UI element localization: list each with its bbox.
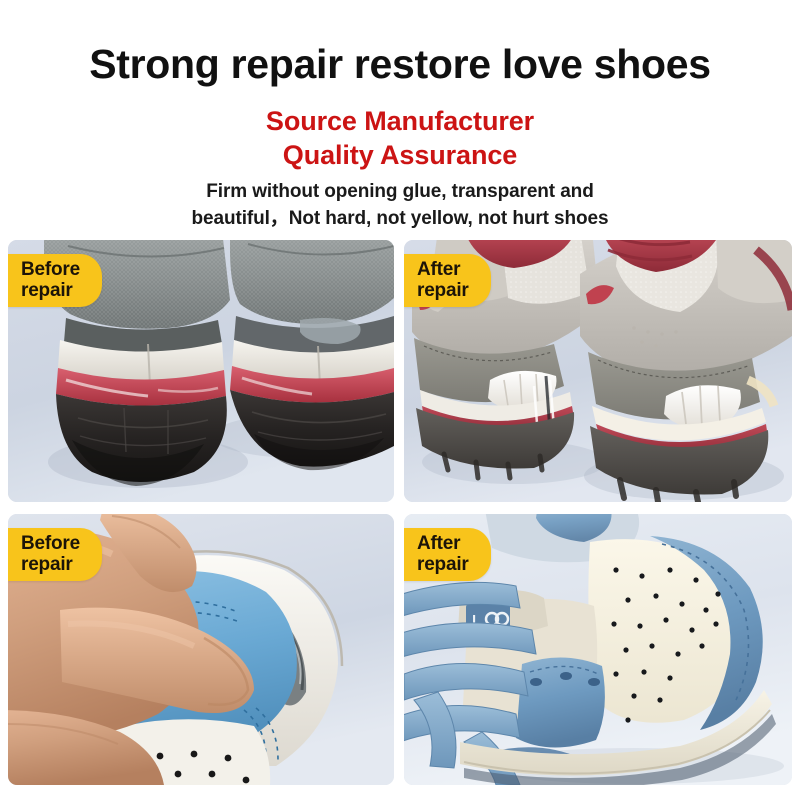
product-ad-page: Strong repair restore love shoes Source … bbox=[0, 0, 800, 800]
header: Strong repair restore love shoes Source … bbox=[0, 0, 800, 236]
badge-line-2: repair bbox=[21, 554, 80, 575]
subtitle-block: Source Manufacturer Quality Assurance bbox=[0, 104, 800, 172]
badge-after-repair-sneaker: After repair bbox=[404, 528, 491, 581]
badge-after-repair-heels: After repair bbox=[404, 254, 491, 307]
description-line-2: beautiful，Not hard, not yellow, not hurt… bbox=[0, 205, 800, 232]
subtitle-line-2: Quality Assurance bbox=[0, 138, 800, 172]
page-title: Strong repair restore love shoes bbox=[0, 39, 800, 89]
photo-panel-before-sole-gap: Before repair bbox=[8, 514, 394, 785]
photo-panel-after-sneaker: l bbox=[404, 514, 792, 785]
subtitle-line-1: Source Manufacturer bbox=[0, 104, 800, 138]
badge-line-1: Before bbox=[21, 259, 80, 280]
comparison-photo-grid: Before repair bbox=[0, 236, 800, 796]
badge-before-repair-sole-gap: Before repair bbox=[8, 528, 102, 581]
badge-line-1: Before bbox=[21, 533, 80, 554]
photo-panel-before-heels: Before repair bbox=[8, 240, 394, 502]
badge-line-1: After bbox=[417, 259, 469, 280]
badge-line-2: repair bbox=[417, 280, 469, 301]
description-line-1: Firm without opening glue, transparent a… bbox=[0, 178, 800, 205]
photo-panel-after-heels: After repair bbox=[404, 240, 792, 502]
badge-before-repair-heels: Before repair bbox=[8, 254, 102, 307]
badge-line-1: After bbox=[417, 533, 469, 554]
badge-line-2: repair bbox=[21, 280, 80, 301]
description-block: Firm without opening glue, transparent a… bbox=[0, 178, 800, 232]
badge-line-2: repair bbox=[417, 554, 469, 575]
